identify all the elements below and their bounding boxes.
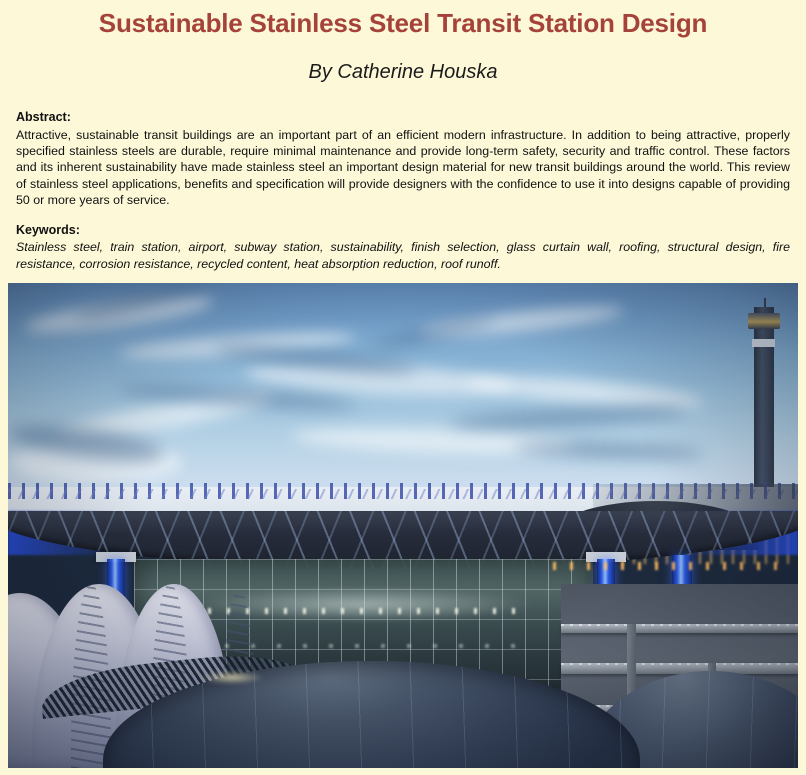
roadway-lamp-row xyxy=(553,562,790,570)
abstract-heading: Abstract: xyxy=(16,110,790,126)
deck-railing xyxy=(561,663,798,665)
control-tower xyxy=(754,307,775,486)
abstract-body: Attractive, sustainable transit building… xyxy=(16,127,790,209)
control-tower-band xyxy=(752,339,775,347)
keywords-body: Stainless steel, train station, airport,… xyxy=(16,239,790,272)
abstract-section: Abstract: Attractive, sustainable transi… xyxy=(16,110,790,209)
canopy-highlight xyxy=(199,671,263,684)
roadway-deck xyxy=(561,663,798,674)
figure-photo-canvas xyxy=(8,283,798,768)
control-tower-cab xyxy=(748,313,780,329)
deck-railing xyxy=(561,624,798,626)
document-page: Sustainable Stainless Steel Transit Stat… xyxy=(0,0,806,775)
roadway-deck xyxy=(561,624,798,633)
figure-photo xyxy=(8,283,798,768)
keywords-heading: Keywords: xyxy=(16,223,790,239)
page-title: Sustainable Stainless Steel Transit Stat… xyxy=(0,0,806,39)
keywords-section: Keywords: Stainless steel, train station… xyxy=(16,223,790,272)
author-byline: By Catherine Houska xyxy=(0,61,806,84)
